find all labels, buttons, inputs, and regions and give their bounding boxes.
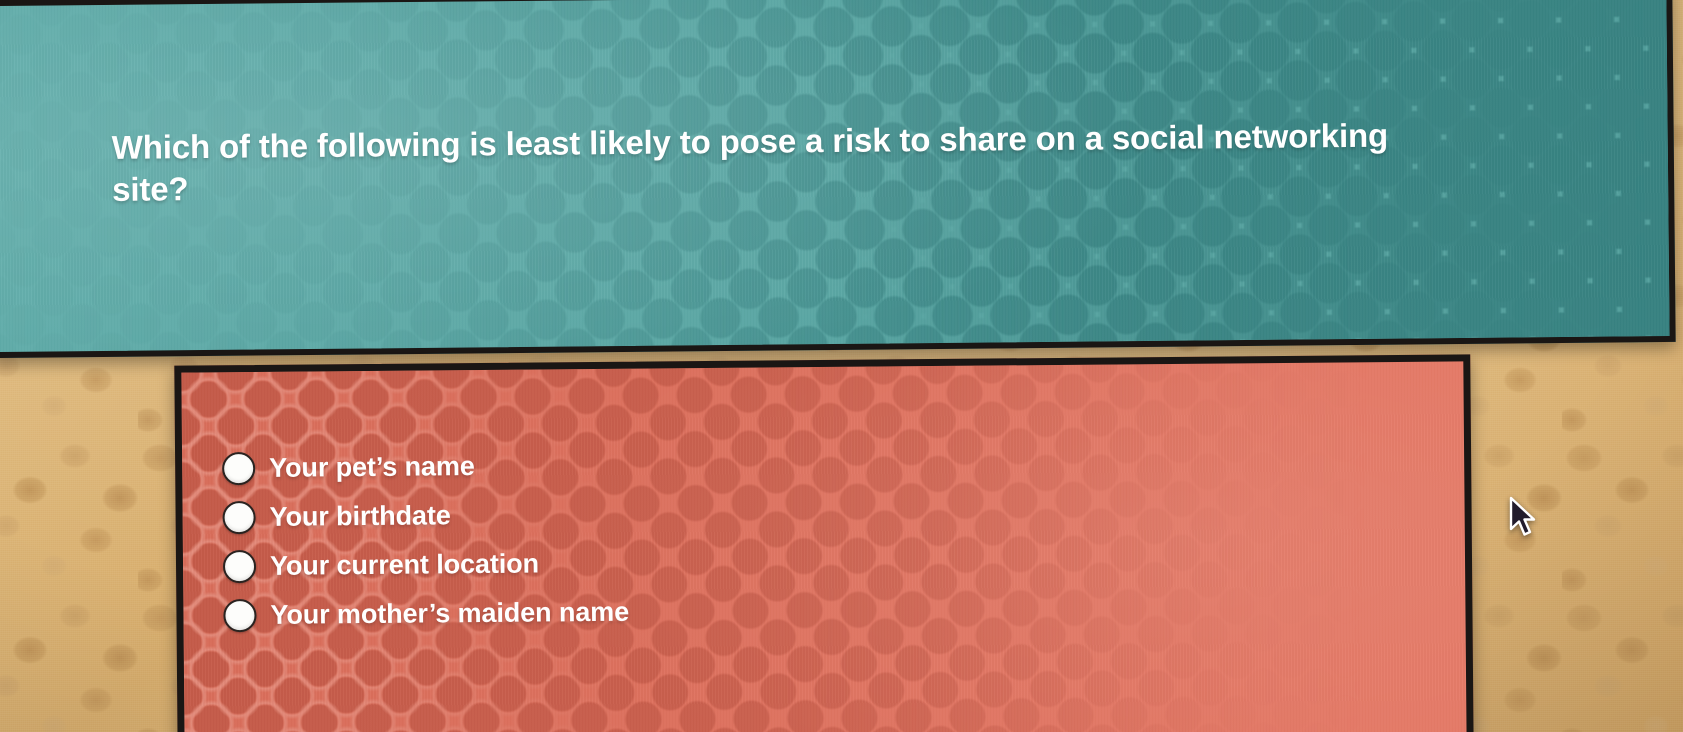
- answers-panel: Your pet’s name Your birthdate Your curr…: [174, 354, 1473, 732]
- radio-button-icon[interactable]: [222, 452, 255, 485]
- radio-button-icon[interactable]: [223, 599, 256, 632]
- question-text: Which of the following is least likely t…: [112, 114, 1443, 211]
- answer-option-label[interactable]: Your current location: [270, 548, 539, 581]
- radio-button-icon[interactable]: [222, 501, 255, 534]
- radio-button-icon[interactable]: [223, 550, 256, 583]
- question-panel: Which of the following is least likely t…: [0, 0, 1676, 358]
- screen: Which of the following is least likely t…: [0, 0, 1683, 732]
- answer-option-2[interactable]: Your birthdate: [222, 487, 922, 542]
- answer-option-3[interactable]: Your current location: [223, 536, 923, 591]
- answer-option-label[interactable]: Your birthdate: [269, 500, 450, 533]
- answer-option-label[interactable]: Your pet’s name: [269, 451, 475, 484]
- answer-options-list: Your pet’s name Your birthdate Your curr…: [222, 438, 924, 640]
- answer-option-1[interactable]: Your pet’s name: [222, 438, 922, 493]
- answer-option-label[interactable]: Your mother’s maiden name: [270, 597, 629, 631]
- answer-option-4[interactable]: Your mother’s maiden name: [223, 585, 923, 640]
